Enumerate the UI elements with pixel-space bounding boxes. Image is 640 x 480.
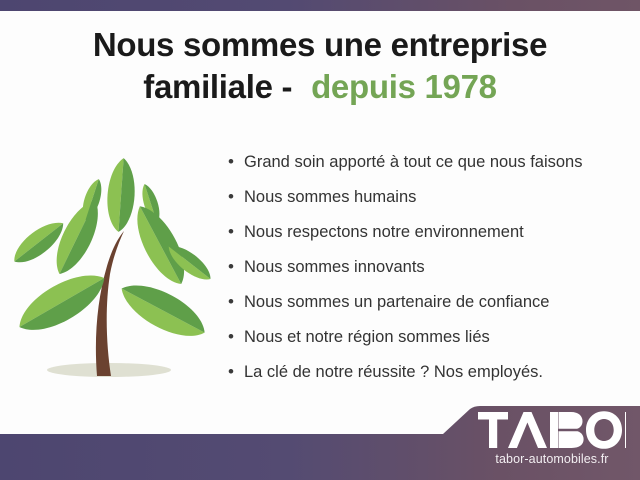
list-item-label: Nous et notre région sommes liés xyxy=(244,325,490,349)
list-item: • Nous sommes humains xyxy=(228,185,628,220)
headline-line-2: familiale - depuis 1978 xyxy=(0,66,640,108)
bullet-marker-icon: • xyxy=(228,150,244,174)
slide-canvas: Nous sommes une entreprise familiale - d… xyxy=(0,0,640,480)
list-item-label: Nous sommes innovants xyxy=(244,255,425,279)
tree-leaf xyxy=(114,273,213,348)
tree-leaf xyxy=(126,199,195,291)
page-title: Nous sommes une entreprise familiale - d… xyxy=(0,24,640,108)
bullet-marker-icon: • xyxy=(228,255,244,279)
brand-logo[interactable]: tabor-automobiles.fr xyxy=(478,410,628,472)
bullet-marker-icon: • xyxy=(228,325,244,349)
bullet-marker-icon: • xyxy=(228,185,244,209)
list-item-label: Nous respectons notre environnement xyxy=(244,220,524,244)
list-item: • Nous sommes innovants xyxy=(228,255,628,290)
list-item-label: Nous sommes un partenaire de confiance xyxy=(244,290,549,314)
tree-leaf xyxy=(105,157,137,233)
tree-trunk xyxy=(96,231,124,376)
list-item: • La clé de notre réussite ? Nos employé… xyxy=(228,360,628,395)
list-item-label: Grand soin apporté à tout ce que nous fa… xyxy=(244,150,582,174)
list-item-label: Nous sommes humains xyxy=(244,185,416,209)
headline-line-2-plain: familiale - xyxy=(143,68,301,105)
headline-accent: depuis 1978 xyxy=(311,68,497,105)
top-accent-bar xyxy=(0,0,640,11)
list-item: • Nous sommes un partenaire de confiance xyxy=(228,290,628,325)
benefits-list: • Grand soin apporté à tout ce que nous … xyxy=(228,150,628,395)
list-item-label: La clé de notre réussite ? Nos employés. xyxy=(244,360,543,384)
tabor-wordmark xyxy=(478,410,626,450)
bullet-marker-icon: • xyxy=(228,290,244,314)
list-item: • Grand soin apporté à tout ce que nous … xyxy=(228,150,628,185)
bullet-marker-icon: • xyxy=(228,220,244,244)
headline-line-1: Nous sommes une entreprise xyxy=(93,26,547,63)
brand-tagline: tabor-automobiles.fr xyxy=(478,452,626,466)
bullet-marker-icon: • xyxy=(228,360,244,384)
list-item: • Nous et notre région sommes liés xyxy=(228,325,628,360)
family-tree-illustration xyxy=(14,148,214,386)
list-item: • Nous respectons notre environnement xyxy=(228,220,628,255)
